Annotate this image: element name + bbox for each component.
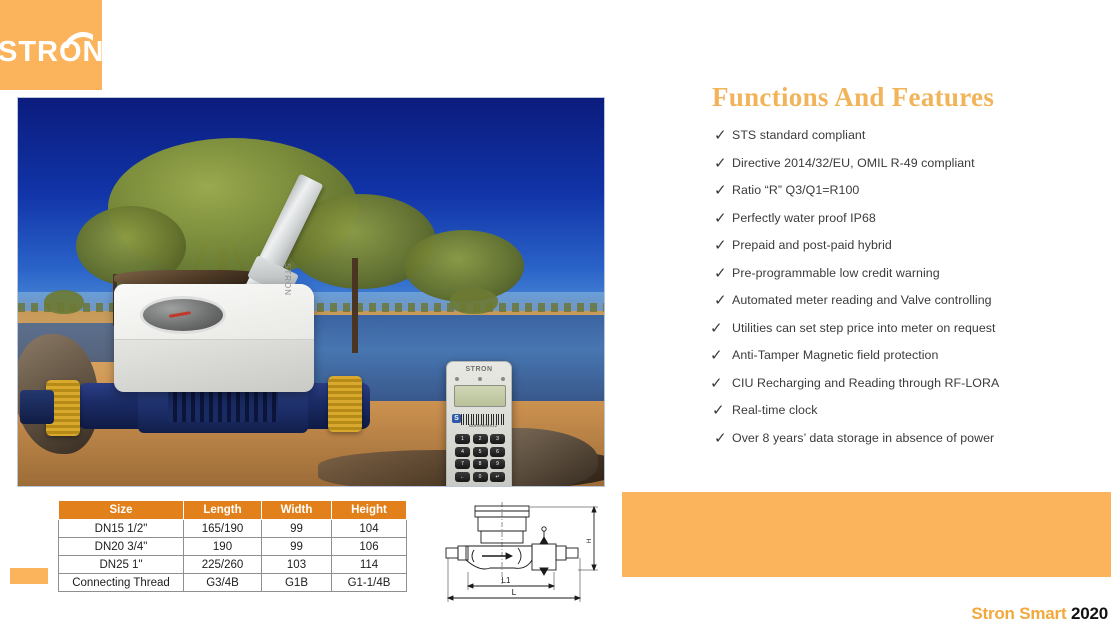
page-title: Functions And Features (712, 82, 1110, 113)
table-cell: 114 (332, 556, 407, 574)
ciu-key[interactable]: 8 (473, 459, 488, 469)
table-cell: 106 (332, 538, 407, 556)
ciu-key[interactable]: ↵ (490, 472, 505, 482)
footer-brand-year: 2020 (1071, 604, 1108, 623)
feature-list-item: ✓ CIU Recharging and Reading through RF-… (700, 375, 1110, 394)
ciu-keypad[interactable]: 1 2 3 4 5 6 7 8 9 ← 0 ↵ (455, 434, 505, 482)
table-header-cell: Size (59, 501, 184, 520)
ciu-brand-text: STRON (447, 366, 511, 373)
ciu-led-2 (478, 377, 482, 381)
check-mark-icon: ✓ (700, 237, 732, 254)
table-cell: DN25 1" (59, 556, 184, 574)
ciu-key[interactable]: 9 (490, 459, 505, 469)
feature-list-item: ✓ Over 8 years’ data storage in absence … (700, 430, 1110, 449)
table-cell: 99 (262, 520, 332, 538)
ciu-key[interactable]: 1 (455, 434, 470, 444)
check-mark-icon: ✓ (700, 347, 732, 364)
feature-label: Anti-Tamper Magnetic field protection (732, 347, 938, 364)
ciu-key[interactable]: 6 (490, 447, 505, 457)
feature-label: Directive 2014/32/EU, OMIL R-49 complian… (732, 155, 975, 172)
ciu-serial-number: 58000000032 (459, 425, 507, 429)
pipe-stub-left (20, 390, 54, 424)
bush-left (44, 290, 84, 314)
table-cell: 104 (332, 520, 407, 538)
dimension-label-l: L (512, 587, 517, 597)
table-header-cell: Length (184, 501, 262, 520)
ciu-led-3 (501, 377, 505, 381)
orange-content-block[interactable] (622, 492, 1111, 577)
table-cell: G1B (262, 574, 332, 592)
check-mark-icon: ✓ (700, 375, 732, 392)
table-row: DN25 1" 225/260 103 114 (59, 556, 407, 574)
table-cell: Connecting Thread (59, 574, 184, 592)
table-cell: G1-1/4B (332, 574, 407, 592)
specification-table: Size Length Width Height DN15 1/2" 165/1… (58, 500, 407, 592)
ciu-barcode-icon (461, 414, 505, 425)
feature-label: Perfectly water proof IP68 (732, 210, 876, 227)
check-mark-icon: ✓ (700, 127, 732, 144)
ciu-led-row (455, 377, 505, 381)
slide-canvas: STRON (0, 0, 1120, 630)
ciu-key[interactable]: 3 (490, 434, 505, 444)
ciu-key[interactable]: 0 (473, 472, 488, 482)
meter-dial-face (140, 296, 226, 334)
feature-list-item: ✓ Utilities can set step price into mete… (700, 320, 1110, 339)
table-header-cell: Height (332, 501, 407, 520)
feature-list-item: ✓ Perfectly water proof IP68 (700, 210, 1110, 229)
check-mark-icon: ✓ (700, 210, 732, 227)
ciu-led-1 (455, 377, 459, 381)
brand-logo[interactable]: STRON (0, 0, 102, 90)
table-row: DN20 3/4" 190 99 106 (59, 538, 407, 556)
feature-list-item: ✓ Pre-programmable low credit warning (700, 265, 1110, 284)
feature-list-item: ✓ Directive 2014/32/EU, OMIL R-49 compli… (700, 155, 1110, 174)
meter-pipe-fins (168, 388, 278, 422)
orange-accent-tab (10, 568, 48, 584)
feature-label: STS standard compliant (732, 127, 865, 144)
table-cell: DN15 1/2" (59, 520, 184, 538)
check-mark-icon: ✓ (700, 155, 732, 172)
check-mark-icon: ✓ (700, 320, 732, 337)
feature-list-item: ✓ Automated meter reading and Valve cont… (700, 292, 1110, 311)
tree-trunk-right (352, 258, 358, 353)
ciu-key[interactable]: 5 (473, 447, 488, 457)
table-row: DN15 1/2" 165/190 99 104 (59, 520, 407, 538)
meter-dial-needle (169, 312, 191, 319)
meter-brand-text: STRON (283, 263, 292, 296)
feature-list-item: ✓ STS standard compliant (700, 127, 1110, 146)
table-cell: 103 (262, 556, 332, 574)
water-meter-dimension-drawing: L1 L H (434, 498, 606, 606)
feature-label: Utilities can set step price into meter … (732, 320, 996, 337)
dimension-label-h: H (587, 539, 593, 543)
feature-label: CIU Recharging and Reading through RF-LO… (732, 375, 999, 392)
table-cell: G3/4B (184, 574, 262, 592)
feature-label: Real-time clock (732, 402, 817, 419)
feature-label: Ratio “R” Q3/Q1=R100 (732, 182, 859, 199)
check-mark-icon: ✓ (700, 292, 732, 309)
feature-label: Pre-programmable low credit warning (732, 265, 940, 282)
ciu-lcd-display (454, 385, 506, 407)
ciu-key[interactable]: ← (455, 472, 470, 482)
table-cell: 225/260 (184, 556, 262, 574)
product-photo: STRON STRON S 58000000032 1 2 3 4 5 6 7 (17, 97, 605, 487)
bush-right (450, 288, 498, 314)
table-header-row: Size Length Width Height (59, 501, 407, 520)
feature-list-item: ✓ Prepaid and post-paid hybrid (700, 237, 1110, 256)
feature-label: Over 8 years’ data storage in absence of… (732, 430, 994, 447)
ciu-key[interactable]: 2 (473, 434, 488, 444)
check-mark-icon: ✓ (700, 402, 732, 419)
table-cell: 190 (184, 538, 262, 556)
check-mark-icon: ✓ (700, 430, 732, 447)
brand-logo-text: STRON (0, 38, 104, 67)
table-row: Connecting Thread G3/4B G1B G1-1/4B (59, 574, 407, 592)
dimension-label-l1: L1 (502, 576, 511, 585)
footer-brand-name: Stron Smart (971, 604, 1066, 623)
table-cell: DN20 3/4" (59, 538, 184, 556)
ciu-keypad-unit: STRON S 58000000032 1 2 3 4 5 6 7 8 9 ← (446, 361, 512, 487)
feature-label: Prepaid and post-paid hybrid (732, 237, 892, 254)
brass-fitting-right (328, 376, 362, 432)
check-mark-icon: ✓ (700, 182, 732, 199)
feature-list-item: ✓ Ratio “R” Q3/Q1=R100 (700, 182, 1110, 201)
features-panel: Functions And Features ✓ STS standard co… (700, 82, 1110, 457)
table-cell: 165/190 (184, 520, 262, 538)
meter-housing-top: STRON (114, 284, 314, 340)
footer-brand: Stron Smart 2020 (971, 604, 1108, 624)
feature-label: Automated meter reading and Valve contro… (732, 292, 992, 309)
table-header-cell: Width (262, 501, 332, 520)
table-cell: 99 (262, 538, 332, 556)
meter-register-housing: STRON (114, 284, 314, 392)
ciu-key[interactable]: 7 (455, 459, 470, 469)
feature-list-item: ✓ Anti-Tamper Magnetic field protection (700, 347, 1110, 366)
feature-list-item: ✓ Real-time clock (700, 402, 1110, 421)
ciu-key[interactable]: 4 (455, 447, 470, 457)
check-mark-icon: ✓ (700, 265, 732, 282)
ciu-logo-icon: S (452, 414, 461, 423)
